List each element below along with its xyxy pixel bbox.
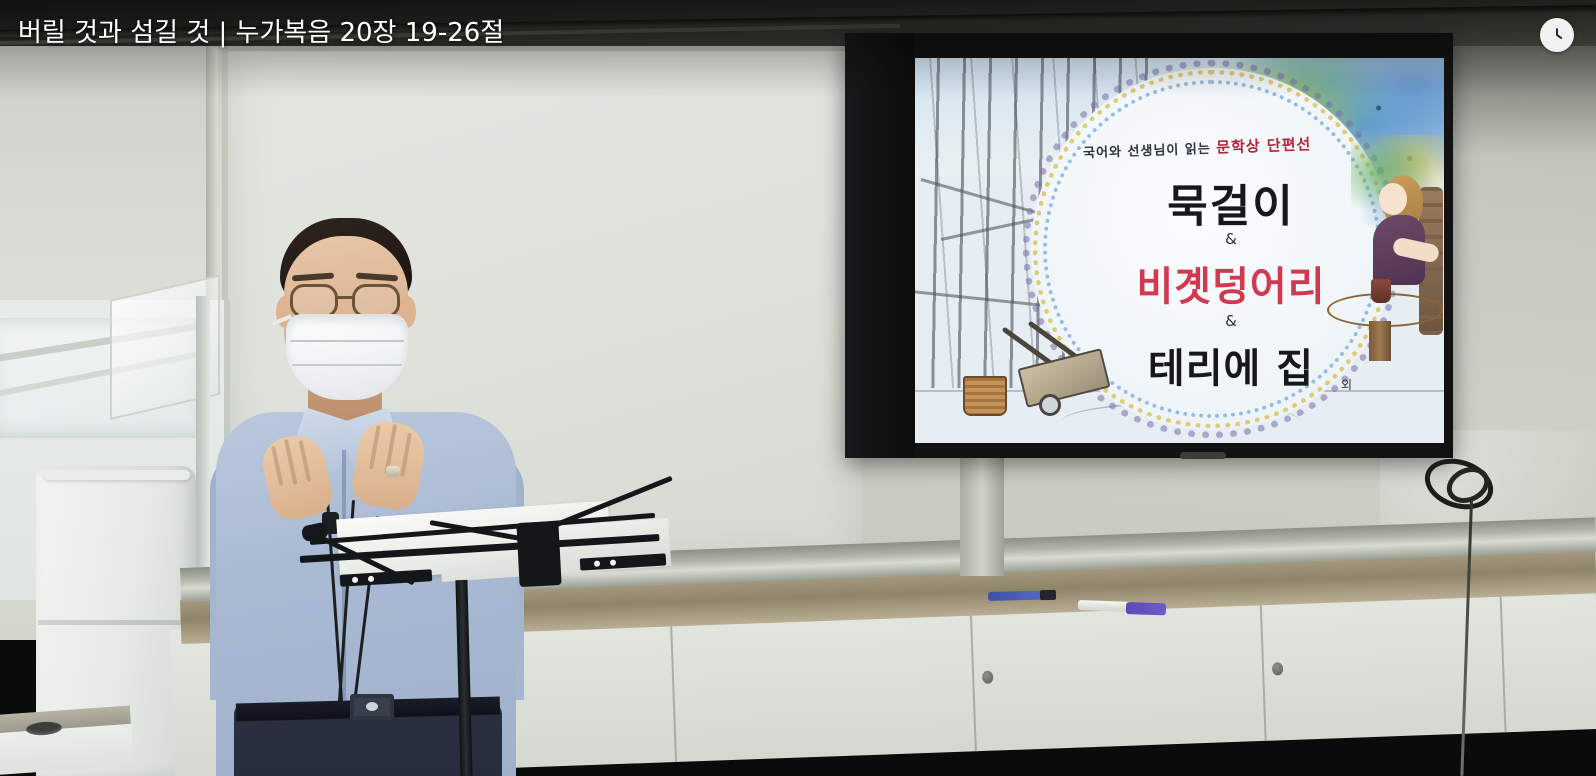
slide-title-line-1: 묵걸이: [1071, 170, 1391, 234]
face-mask-pleat: [290, 340, 404, 342]
slide-subtitle-accent: 문학상 단편선: [1216, 135, 1312, 156]
face-mask-pleat: [292, 364, 402, 366]
tv-bezel: [845, 33, 915, 458]
slide-wheelbarrow-wheel: [1039, 394, 1061, 416]
ring: [386, 466, 400, 477]
slide-separator: &: [1071, 312, 1391, 330]
clip-screw: [594, 560, 600, 566]
glasses-lens-right: [352, 284, 400, 318]
cabinet-divider: [1499, 582, 1506, 732]
glasses-bridge: [336, 296, 354, 299]
slide-separator: &: [1071, 230, 1391, 248]
tv-mount-post: [960, 458, 1004, 576]
finger: [369, 425, 381, 469]
tv-bottom-bar: [1180, 452, 1226, 459]
slide-subtitle-prefix: 국어와 선생님이 읽는: [1083, 142, 1211, 161]
finger: [299, 440, 312, 482]
clip-screw: [352, 577, 358, 583]
air-conditioner-top: [44, 470, 190, 480]
clock-icon: [1546, 24, 1568, 46]
watch-later-button[interactable]: [1540, 18, 1574, 52]
slide-basket: [963, 376, 1007, 416]
purple-marker[interactable]: [1126, 602, 1166, 615]
music-stand: [290, 500, 690, 776]
side-table: [0, 706, 134, 776]
glasses-icon: [290, 284, 338, 318]
finger: [271, 446, 283, 486]
tv-screen: 국어와 선생님이 읽는 문학상 단편선 묵걸이 & 비곗덩어리 & 테리에 집 …: [911, 58, 1444, 443]
cabinet-divider: [1259, 591, 1266, 741]
finger: [400, 433, 412, 477]
clip-screw: [368, 576, 374, 582]
face-mask: [286, 314, 408, 400]
slide-title-suffix: 외: [1341, 376, 1352, 393]
white-marker[interactable]: [1078, 600, 1132, 612]
stand-hub: [516, 521, 561, 587]
video-title[interactable]: 버릴 것과 섬길 것 | 누가복음 20장 19-26절: [18, 18, 504, 49]
cabinet-divider: [969, 601, 976, 751]
slide-title-line-2: 비곗덩어리: [1071, 254, 1391, 312]
cabinet-knob[interactable]: [1272, 662, 1283, 675]
wall-television: 국어와 선생님이 읽는 문학상 단편선 묵걸이 & 비곗덩어리 & 테리에 집 …: [845, 33, 1453, 458]
video-player[interactable]: 국어와 선생님이 읽는 문학상 단편선 묵걸이 & 비곗덩어리 & 테리에 집 …: [0, 0, 1596, 776]
presentation-slide: 국어와 선생님이 읽는 문학상 단편선 묵걸이 & 비곗덩어리 & 테리에 집 …: [911, 58, 1444, 443]
blue-marker-cap: [1040, 590, 1056, 600]
finger: [284, 439, 297, 485]
stand-pole: [455, 580, 472, 776]
clip-screw: [610, 559, 616, 565]
air-conditioner-seam: [38, 620, 194, 625]
cabinet-knob[interactable]: [982, 671, 993, 684]
